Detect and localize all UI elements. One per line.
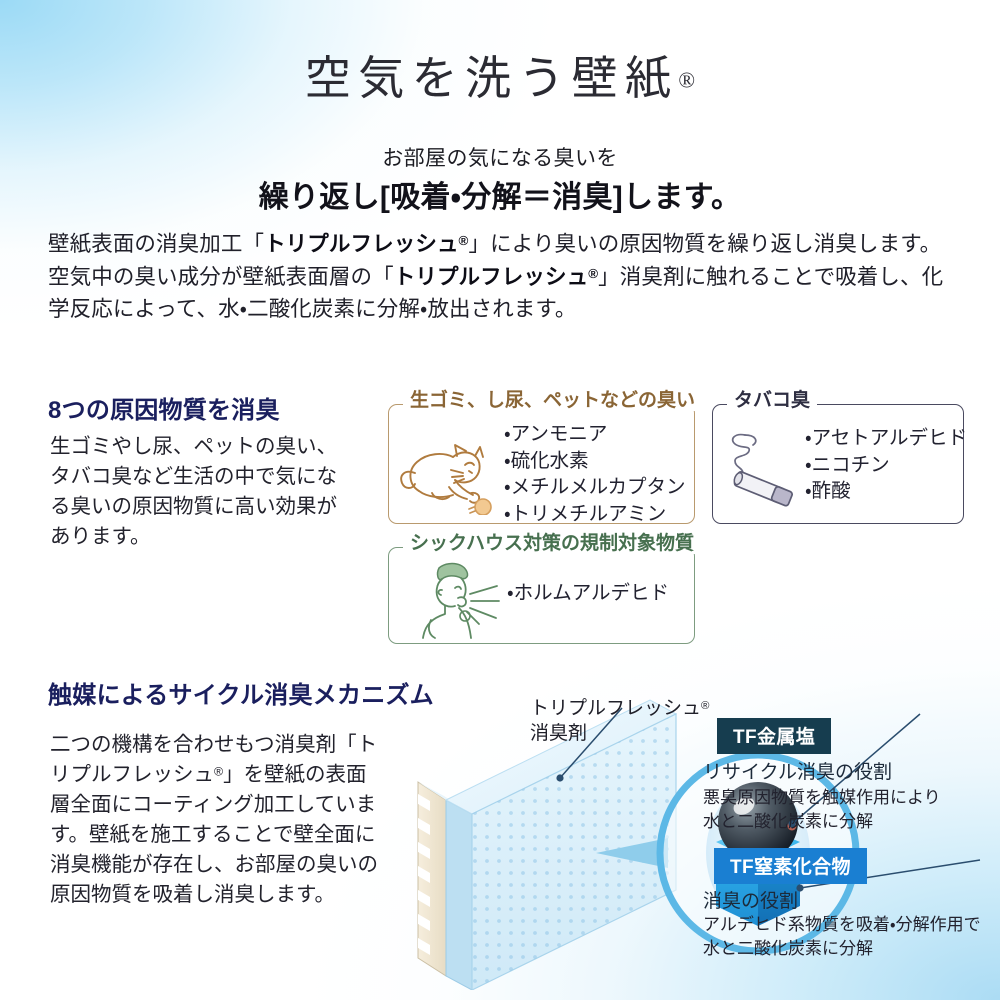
role-tf-metal-salt: リサイクル消臭の役割 <box>703 757 892 784</box>
diagram-callout-label: トリプルフレッシュ® 消臭剤 <box>530 697 709 746</box>
odor-box-sick-house-items: ・ホルムアルデヒド <box>507 580 669 607</box>
list-item: ・アセトアルデヒド <box>805 425 967 452</box>
registered-mark: ® <box>701 700 709 712</box>
list-item: ・酢酸 <box>805 478 967 505</box>
list-item: ・硫化水素 <box>504 448 686 475</box>
list-item: ・トリメチルアミン <box>504 501 686 528</box>
badge-tf-nitrogen-compound: TF窒素化合物 <box>714 848 867 884</box>
list-item: ・アンモニア <box>504 421 686 448</box>
intro-segment-1: 壁紙表面の消臭加工「 <box>48 232 264 256</box>
odor-box-tobacco: タバコ臭 ・アセトアルデヒド ・ニコチン ・酢酸 <box>712 404 964 524</box>
subtitle-line-1: お部屋の気になる臭いを <box>0 142 1000 172</box>
diagram-callout-line-1: トリプルフレッシュ® <box>530 697 709 722</box>
list-item: ・ニコチン <box>805 452 967 479</box>
description-line-2: 水と二酸化炭素に分解 <box>703 810 941 834</box>
cigarette-smoke-icon <box>719 427 805 516</box>
description-tf-metal-salt: 悪臭原因物質を触媒作用により 水と二酸化炭素に分解 <box>703 786 941 834</box>
cat-playing-icon <box>397 429 501 520</box>
odor-box-pet-items: ・アンモニア ・硫化水素 ・メチルメルカプタン ・トリメチルアミン <box>504 421 686 527</box>
brand-name-2: トリプルフレッシュ® <box>394 265 598 289</box>
description-line-2: 水と二酸化炭素に分解 <box>703 937 981 961</box>
section-2-heading: 触媒によるサイクル消臭メカニズム <box>48 675 434 710</box>
badge-tf-metal-salt: TF金属塩 <box>717 718 831 754</box>
infographic-page: 空気を洗う壁紙® お部屋の気になる臭いを 繰り返し[吸着・分解＝消臭]します。 … <box>0 0 1000 1000</box>
coughing-person-icon <box>409 558 501 645</box>
intro-paragraph: 壁紙表面の消臭加工「トリプルフレッシュ®」により臭いの原因物質を繰り返し消臭しま… <box>48 228 953 326</box>
wallpaper-backing-layer <box>418 782 446 976</box>
odor-box-pet: 生ゴミ、し尿、ペットなどの臭い <box>388 404 695 524</box>
list-item: ・メチルメルカプタン <box>504 474 686 501</box>
description-line-1: 悪臭原因物質を触媒作用により <box>703 786 941 810</box>
page-title: 空気を洗う壁紙® <box>0 42 1000 108</box>
page-title-text: 空気を洗う壁紙 <box>305 53 679 104</box>
section-2-body-segment-1: 二つの機構を合わせもつ消臭剤「 <box>50 733 357 756</box>
odor-box-sick-house: シックハウス対策の規制対象物質 <box>388 547 695 644</box>
registered-mark: ® <box>459 233 469 248</box>
registered-mark: ® <box>588 266 598 281</box>
section-1-body: 生ゴミやし尿、ペットの臭い、タバコ臭など生活の中で気になる臭いの原因物質に高い効… <box>50 432 350 552</box>
list-item: ・ホルムアルデヒド <box>507 580 669 607</box>
registered-mark: ® <box>214 764 223 778</box>
description-tf-nitrogen-compound: アルデヒド系物質を吸着・分解作用で 水と二酸化炭素に分解 <box>703 913 981 961</box>
diagram-callout-line-2: 消臭剤 <box>530 722 709 747</box>
odor-box-sick-house-legend: シックハウス対策の規制対象物質 <box>403 534 701 554</box>
odor-box-tobacco-legend: タバコ臭 <box>727 391 817 411</box>
description-line-1: アルデヒド系物質を吸着・分解作用で <box>703 913 981 937</box>
brand-name-1: トリプルフレッシュ® <box>264 232 468 256</box>
registered-mark: ® <box>678 67 695 92</box>
section-1-heading: 8つの原因物質を消臭 <box>48 390 280 425</box>
role-tf-nitrogen-compound: 消臭の役割 <box>703 886 798 913</box>
subtitle-line-2: 繰り返し[吸着・分解＝消臭]します。 <box>0 172 1000 216</box>
odor-box-tobacco-items: ・アセトアルデヒド ・ニコチン ・酢酸 <box>805 425 967 505</box>
section-2-body: 二つの機構を合わせもつ消臭剤「トリプルフレッシュ®」を壁紙の表面層全面にコーティ… <box>50 730 380 910</box>
odor-box-pet-legend: 生ゴミ、し尿、ペットなどの臭い <box>403 391 702 411</box>
